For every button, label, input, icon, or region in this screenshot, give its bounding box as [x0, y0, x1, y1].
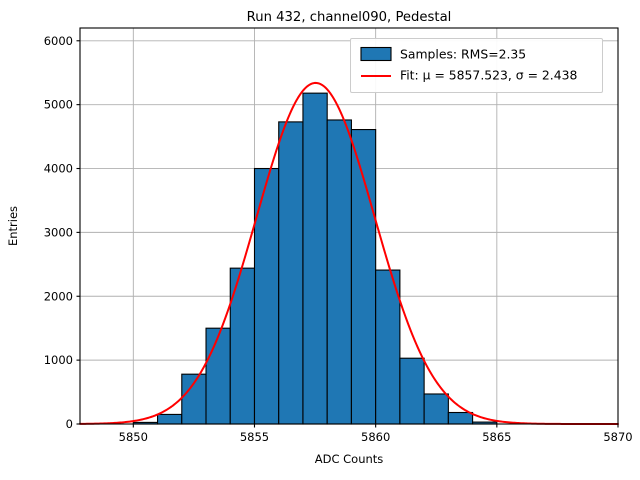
y-tick-label: 1000 — [44, 353, 73, 367]
legend-label-fit: Fit: μ = 5857.523, σ = 2.438 — [400, 68, 577, 83]
x-tick-label: 5850 — [119, 430, 148, 444]
histogram-bar — [279, 122, 303, 424]
histogram-chart: 58505855586058655870 0100020003000400050… — [0, 0, 640, 480]
y-tick-label: 3000 — [44, 225, 73, 239]
y-tick-label: 0 — [66, 417, 73, 431]
histogram-bar — [448, 413, 472, 424]
y-axis-ticks: 0100020003000400050006000 — [44, 34, 80, 431]
y-tick-label: 4000 — [44, 162, 73, 176]
x-axis-label: ADC Counts — [315, 452, 384, 466]
y-tick-label: 2000 — [44, 289, 73, 303]
y-tick-label: 5000 — [44, 98, 73, 112]
legend: Samples: RMS=2.35 Fit: μ = 5857.523, σ =… — [351, 39, 603, 93]
y-tick-label: 6000 — [44, 34, 73, 48]
histogram-bar — [424, 394, 448, 424]
histogram-bar — [327, 120, 351, 424]
histogram-bars — [133, 93, 497, 424]
page-title: Run 432, channel090, Pedestal — [247, 10, 452, 25]
matplotlib-figure: 58505855586058655870 0100020003000400050… — [0, 0, 640, 480]
histogram-bar — [303, 93, 327, 424]
x-tick-label: 5865 — [482, 430, 511, 444]
y-axis-label: Entries — [6, 206, 20, 246]
x-tick-label: 5860 — [361, 430, 390, 444]
x-axis-ticks: 58505855586058655870 — [119, 424, 633, 444]
histogram-bar — [254, 169, 278, 424]
legend-label-samples: Samples: RMS=2.35 — [400, 47, 526, 62]
legend-swatch-samples — [361, 48, 391, 61]
histogram-bar — [400, 358, 424, 424]
histogram-bar — [376, 270, 400, 424]
x-tick-label: 5855 — [240, 430, 269, 444]
histogram-bar — [206, 328, 230, 424]
histogram-bar — [158, 414, 182, 424]
histogram-bar — [351, 130, 375, 424]
x-tick-label: 5870 — [603, 430, 632, 444]
